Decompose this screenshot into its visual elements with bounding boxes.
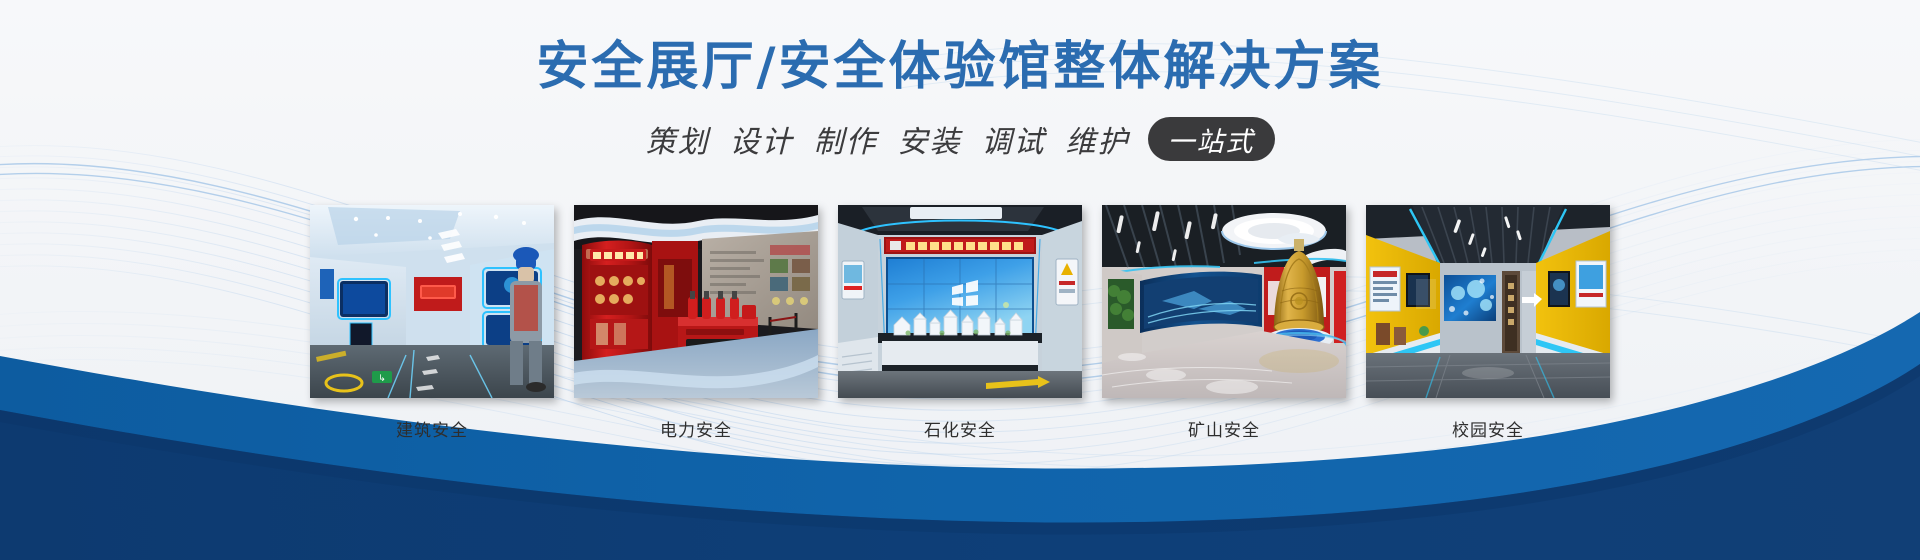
thumbnail-mine-safety[interactable] — [1102, 205, 1346, 398]
card-caption: 校园安全 — [1452, 416, 1524, 441]
scene-campus-safety-hall — [1366, 205, 1610, 398]
solution-card-campus[interactable]: 校园安全 — [1365, 205, 1611, 441]
thumbnail-petrochemical-safety[interactable] — [838, 205, 1082, 398]
service-step-production: 制作 — [814, 117, 878, 161]
solution-card-power[interactable]: 电力安全 — [573, 205, 819, 441]
scene-power-safety-hall — [574, 205, 818, 398]
one-stop-badge: 一站式 — [1148, 117, 1275, 161]
card-caption: 石化安全 — [924, 416, 996, 441]
banner-content: 安全展厅/安全体验馆整体解决方案 策划 设计 制作 安装 调试 维护 一站式 — [0, 0, 1920, 560]
service-steps-list: 策划 设计 制作 安装 调试 维护 — [646, 117, 1130, 161]
subtitle-row: 策划 设计 制作 安装 调试 维护 一站式 — [0, 117, 1920, 161]
scene-construction-safety-hall: ↳ — [310, 205, 554, 398]
solution-card-petrochemical[interactable]: 石化安全 — [837, 205, 1083, 441]
card-caption: 建筑安全 — [396, 416, 468, 441]
thumbnail-construction-safety[interactable]: ↳ — [310, 205, 554, 398]
card-caption: 电力安全 — [660, 416, 732, 441]
service-step-planning: 策划 — [646, 117, 710, 161]
solution-card-list: ↳ 建筑安全 — [0, 205, 1920, 441]
service-step-design: 设计 — [730, 117, 794, 161]
banner-root: 安全展厅/安全体验馆整体解决方案 策划 设计 制作 安装 调试 维护 一站式 — [0, 0, 1920, 560]
service-step-installation: 安装 — [898, 117, 962, 161]
scene-mine-safety-hall — [1102, 205, 1346, 398]
service-step-debugging: 调试 — [982, 117, 1046, 161]
page-title: 安全展厅/安全体验馆整体解决方案 — [0, 24, 1920, 99]
service-step-maintenance: 维护 — [1066, 117, 1130, 161]
scene-petrochemical-safety-hall — [838, 205, 1082, 398]
svg-text:↳: ↳ — [378, 374, 386, 384]
card-caption: 矿山安全 — [1188, 416, 1260, 441]
thumbnail-power-safety[interactable] — [574, 205, 818, 398]
solution-card-construction[interactable]: ↳ 建筑安全 — [309, 205, 555, 441]
thumbnail-campus-safety[interactable] — [1366, 205, 1610, 398]
solution-card-mine[interactable]: 矿山安全 — [1101, 205, 1347, 441]
